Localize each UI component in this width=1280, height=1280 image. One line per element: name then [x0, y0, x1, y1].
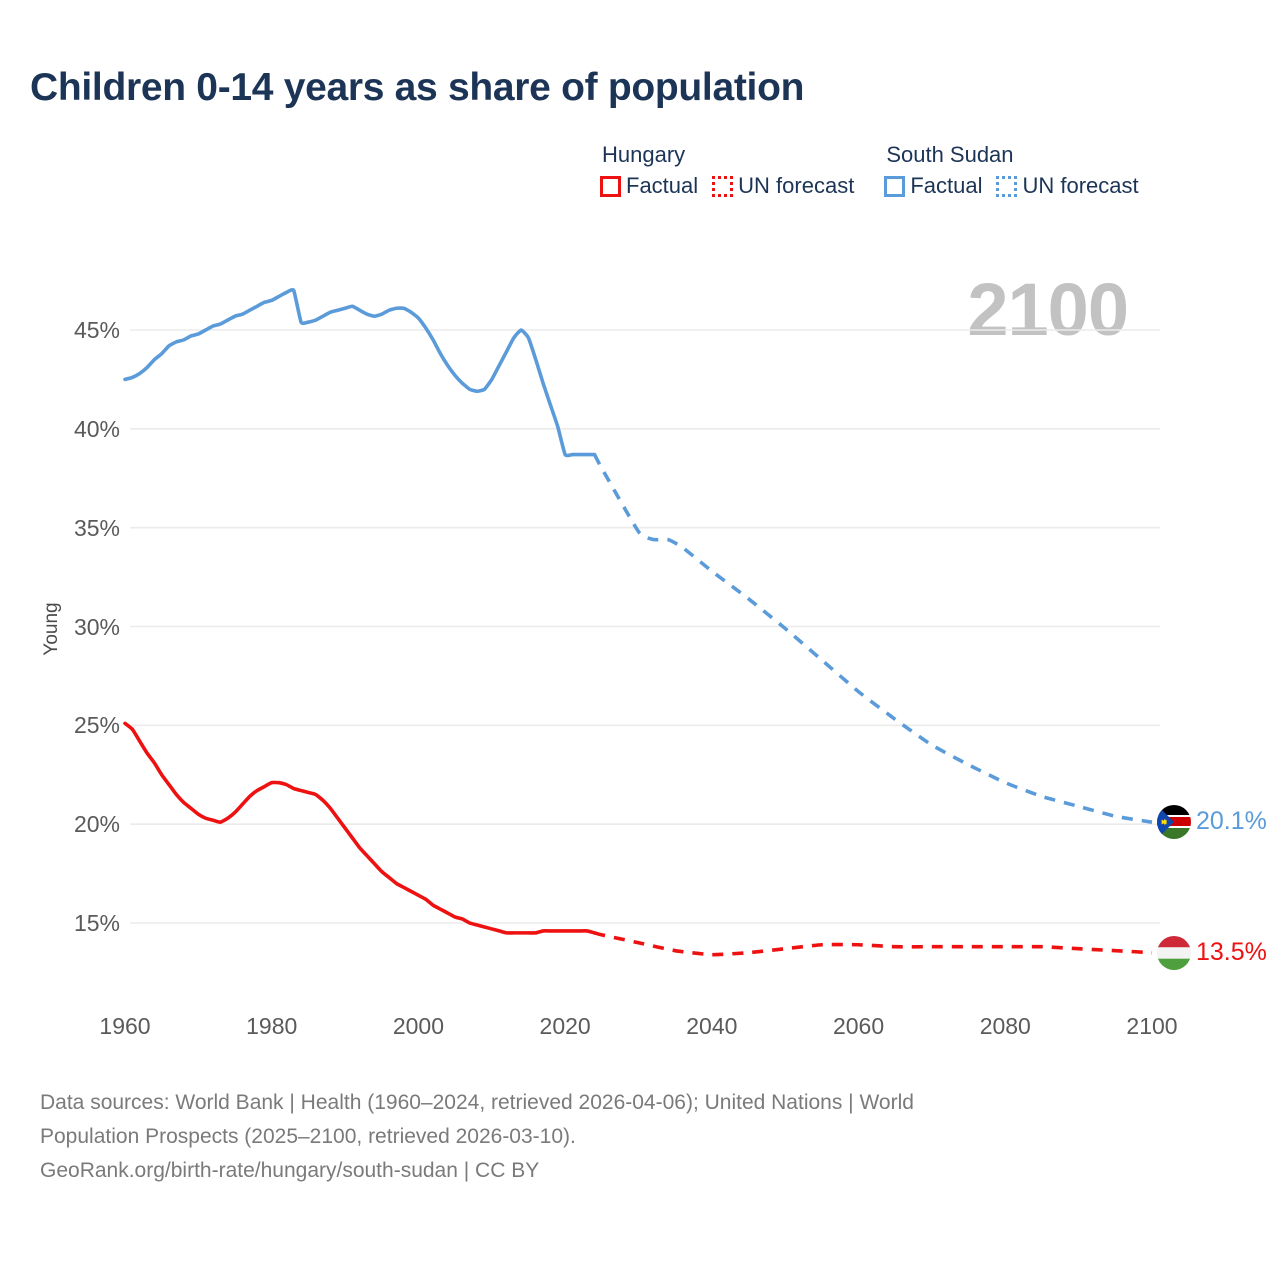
- x-axis-tick-label: 2040: [652, 1013, 772, 1040]
- footer-sources: Data sources: World Bank | Health (1960–…: [40, 1086, 1160, 1188]
- legend-label-hungary-forecast: UN forecast: [738, 174, 854, 198]
- legend-country-hungary: Hungary: [600, 142, 854, 168]
- footer-line-1: Data sources: World Bank | Health (1960–…: [40, 1086, 1160, 1120]
- y-axis-tick-label: 15%: [40, 910, 120, 937]
- series-line-factual: [125, 290, 594, 456]
- legend-label-south-sudan-forecast: UN forecast: [1022, 174, 1138, 198]
- chart-page: Children 0-14 years as share of populati…: [0, 0, 1280, 1280]
- x-axis-tick-label: 2060: [799, 1013, 919, 1040]
- footer-line-3[interactable]: GeoRank.org/birth-rate/hungary/south-sud…: [40, 1154, 1160, 1188]
- x-axis-tick-label: 2000: [358, 1013, 478, 1040]
- year-watermark: 2100: [967, 272, 1128, 348]
- series-line-forecast: [594, 933, 1152, 955]
- legend-item-south-sudan-factual[interactable]: Factual: [884, 174, 982, 198]
- legend-swatch-dotted-icon: [712, 176, 733, 197]
- x-axis-tick-label: 1980: [212, 1013, 332, 1040]
- chart-gridlines: [130, 330, 1160, 923]
- chart-legend: Hungary Factual UN forecast South Sudan …: [600, 142, 1139, 198]
- y-axis-tick-label: 45%: [40, 317, 120, 344]
- legend-country-south-sudan: South Sudan: [884, 142, 1138, 168]
- legend-group-south-sudan: South Sudan Factual UN forecast: [884, 142, 1138, 198]
- x-axis-tick-label: 2080: [945, 1013, 1065, 1040]
- south-sudan-flag-icon: [1157, 805, 1191, 839]
- y-axis-tick-label: 25%: [40, 712, 120, 739]
- x-axis-tick-label: 2100: [1092, 1013, 1212, 1040]
- footer-line-2: Population Prospects (2025–2100, retriev…: [40, 1120, 1160, 1154]
- legend-swatch-solid-icon: [600, 176, 621, 197]
- x-axis-tick-label: 1960: [65, 1013, 185, 1040]
- chart-series-layer: [125, 290, 1152, 955]
- hungary-end-value: 13.5%: [1196, 938, 1267, 967]
- y-axis-title: Young: [41, 569, 63, 689]
- legend-swatch-solid-icon: [884, 176, 905, 197]
- legend-item-hungary-factual[interactable]: Factual: [600, 174, 698, 198]
- hungary-flag-icon: [1157, 936, 1191, 970]
- legend-label-south-sudan-factual: Factual: [910, 174, 982, 198]
- y-axis-tick-label: 20%: [40, 811, 120, 838]
- y-axis-tick-label: 40%: [40, 416, 120, 443]
- legend-item-hungary-forecast[interactable]: UN forecast: [712, 174, 854, 198]
- legend-swatch-dotted-icon: [996, 176, 1017, 197]
- page-title: Children 0-14 years as share of populati…: [30, 66, 804, 110]
- series-line-factual: [125, 723, 594, 933]
- legend-item-south-sudan-forecast[interactable]: UN forecast: [996, 174, 1138, 198]
- x-axis-tick-label: 2020: [505, 1013, 625, 1040]
- legend-group-hungary: Hungary Factual UN forecast: [600, 142, 854, 198]
- legend-label-hungary-factual: Factual: [626, 174, 698, 198]
- y-axis-tick-label: 35%: [40, 515, 120, 542]
- series-line-forecast: [594, 455, 1152, 823]
- south-sudan-end-value: 20.1%: [1196, 807, 1267, 836]
